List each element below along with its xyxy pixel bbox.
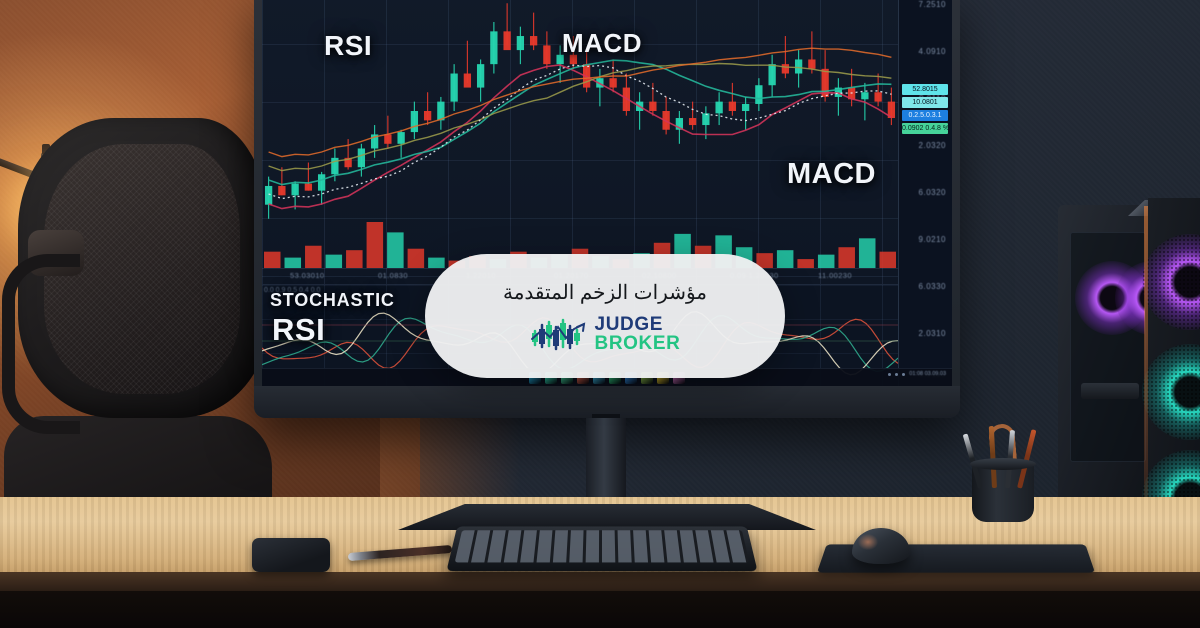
chart-label-macd-right: MACD xyxy=(787,158,876,191)
time-axis-label: 11.00230 xyxy=(818,271,852,280)
chart-label-rsi: RSI xyxy=(324,30,372,62)
chart-label-stoch-rsi: RSI xyxy=(272,312,325,348)
pc-tower-light-strip xyxy=(1144,206,1148,504)
keyboard[interactable] xyxy=(446,526,757,571)
fan-mesh-grill xyxy=(1142,234,1200,330)
system-tray[interactable]: 01:08 03.09.03 xyxy=(888,372,946,378)
pc-internal-component xyxy=(1081,383,1139,399)
price-tag[interactable]: 0.0902 0.4.8 % xyxy=(902,123,948,134)
logo-line-broker: BROKER xyxy=(595,334,681,353)
overlay-card: مؤشرات الزخم المتقدمة xyxy=(425,254,785,378)
pc-tower-front-panel xyxy=(1148,198,1200,508)
price-tag[interactable]: 10.0801 xyxy=(902,97,948,108)
fan-mesh-grill xyxy=(1142,344,1200,440)
card-title: مؤشرات الزخم المتقدمة xyxy=(503,280,707,305)
smartphone[interactable] xyxy=(252,538,330,572)
price-axis[interactable]: 7.25104.09109.01102.03206.03209.02106.03… xyxy=(898,0,952,386)
floor xyxy=(0,591,1200,628)
price-tag[interactable]: 0.2.5.0.3.1 xyxy=(902,110,948,121)
pen-cup xyxy=(972,462,1034,522)
brand-logo-text: JUDGE BROKER xyxy=(595,315,681,353)
time-axis-label: 53.03010 xyxy=(290,271,324,280)
mouse-highlight xyxy=(858,534,878,550)
time-axis-label: 01.0830 xyxy=(378,271,408,280)
taskbar-clock[interactable]: 01:08 03.09.03 xyxy=(909,372,946,378)
brand-logo[interactable]: JUDGE BROKER xyxy=(530,315,681,353)
chart-label-macd-left: MACD xyxy=(562,28,642,59)
tray-icon-1[interactable] xyxy=(888,373,891,376)
price-tag[interactable]: 52.8015 xyxy=(902,84,948,95)
tray-icon-3[interactable] xyxy=(902,373,905,376)
price-axis-label: 4.0910 xyxy=(919,47,946,56)
desk-scene: 53.0301001.08301.2201001.2017002.108000.… xyxy=(0,0,1200,628)
rgb-fan-front-teal xyxy=(1142,344,1200,440)
price-axis-label: 2.0320 xyxy=(919,141,946,150)
price-axis-label: 9.0210 xyxy=(919,235,946,244)
logo-line-judge: JUDGE xyxy=(595,315,681,334)
pc-tower-glass-window xyxy=(1070,232,1146,462)
candlestick-logo-icon xyxy=(530,317,586,351)
price-axis-label: 7.2510 xyxy=(919,0,946,9)
pen-cup-rim xyxy=(970,458,1036,470)
tray-icon-2[interactable] xyxy=(895,373,898,376)
price-axis-label: 2.0310 xyxy=(919,329,946,338)
keyboard-keys[interactable] xyxy=(455,530,750,562)
price-axis-label: 6.0330 xyxy=(919,282,946,291)
chair-armrest xyxy=(2,254,80,434)
chart-label-stochastic: STOCHASTIC xyxy=(270,290,395,311)
rgb-fan-front-purple xyxy=(1142,234,1200,330)
price-axis-label: 6.0320 xyxy=(919,188,946,197)
